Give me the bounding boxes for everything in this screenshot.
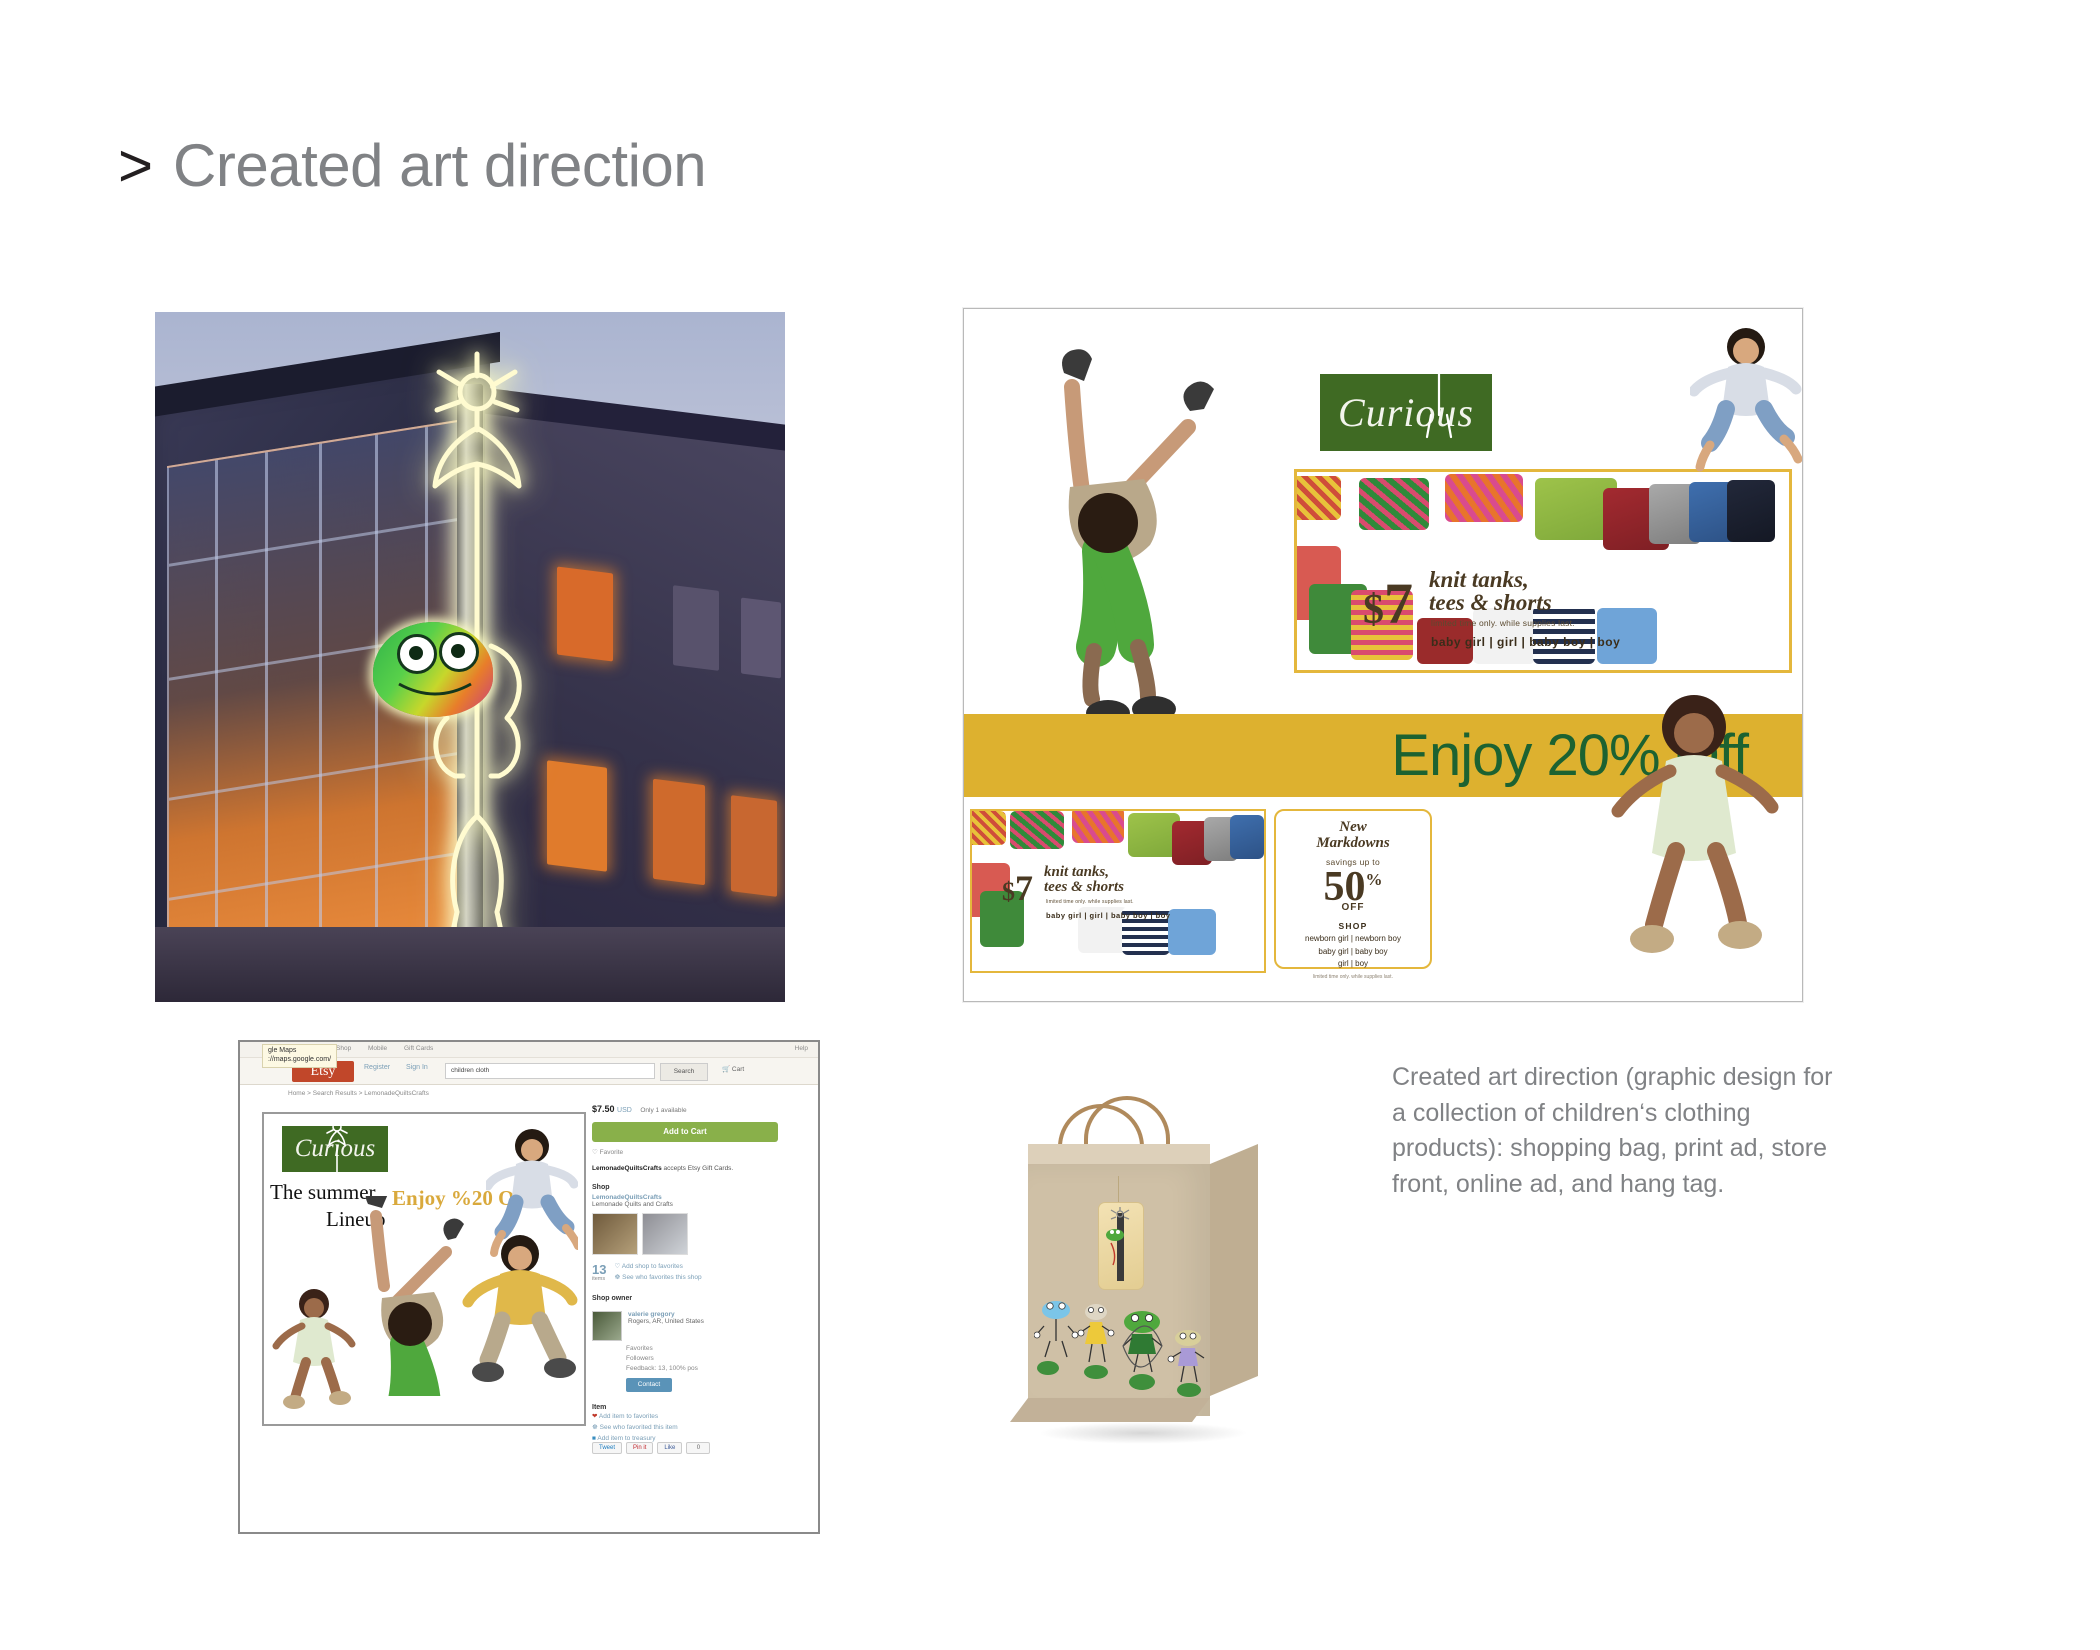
see-who-favorited-item-label: See who favorited this item (600, 1424, 678, 1431)
listing-sidebar: $7.50 USD Only 1 available Add to Cart ♡… (592, 1104, 782, 1444)
owner-stat-feedback[interactable]: Feedback: 13, 100% pos (626, 1364, 782, 1374)
listing-image[interactable]: Curious The summer Lineup Enjoy %20 Off (262, 1112, 586, 1426)
offer-categories: baby girl | girl | baby boy | boy (1046, 911, 1170, 920)
pin-it-button[interactable]: Pin it (626, 1442, 653, 1454)
listing-price-row: $7.50 USD Only 1 available (592, 1104, 782, 1114)
owner-stats: Favorites Followers Feedback: 13, 100% p… (626, 1344, 782, 1373)
markdown-coupon: New Markdowns savings up to 50% OFF SHOP… (1274, 809, 1432, 969)
tweet-button[interactable]: Tweet (592, 1442, 622, 1454)
breadcrumb[interactable]: Home > Search Results > LemonadeQuiltsCr… (288, 1090, 429, 1097)
bag-side-panel (1210, 1144, 1258, 1396)
coupon-shop-label: SHOP (1276, 921, 1430, 931)
kid-handstand-photo (963, 337, 1252, 757)
garment-shorts (1010, 811, 1064, 849)
price-headline: $7 (1363, 570, 1413, 637)
listing-currency: USD (617, 1107, 632, 1114)
add-shop-to-favorites[interactable]: ♡ Add shop to favorites (614, 1261, 701, 1272)
heart-icon: ♡ (592, 1149, 598, 1156)
nav-mobile[interactable]: Mobile (368, 1045, 387, 1052)
window (731, 795, 777, 897)
coupon-link-row[interactable]: girl | boy (1276, 958, 1430, 970)
garment-shorts (1294, 476, 1341, 520)
price-number: 7 (1384, 571, 1413, 636)
shop-name-link[interactable]: LemonadeQuiltsCrafts (592, 1194, 782, 1201)
coupon-off-label: OFF (1276, 902, 1430, 913)
cart-button[interactable]: 🛒 Cart (722, 1065, 744, 1073)
contact-button[interactable]: Contact (626, 1378, 672, 1392)
people-icon: ☸ (592, 1424, 598, 1431)
register-button[interactable]: Register (364, 1064, 390, 1071)
frog-character-head (373, 622, 493, 717)
offer-fineprint: limited time only. while supplies last. (1431, 618, 1575, 628)
price-headline: $7 (1002, 867, 1033, 909)
coupon-links[interactable]: newborn girl | newborn boy baby girl | b… (1276, 933, 1430, 970)
secondary-offer-block: $7 knit tanks, tees & shorts limited tim… (970, 809, 1266, 973)
window (673, 585, 719, 671)
offer-fineprint: limited time only. while supplies last. (1046, 899, 1134, 905)
nav-gift-cards[interactable]: Gift Cards (404, 1045, 433, 1052)
offer-headline-line1: knit tanks, (1429, 568, 1552, 591)
store-front-image (155, 312, 785, 1002)
price-currency: $ (1002, 877, 1015, 906)
shopping-bag-image (950, 1082, 1370, 1530)
shop-thumbnail[interactable] (642, 1213, 688, 1255)
owner-name-link[interactable]: valerie gregory (628, 1311, 704, 1318)
garment-shorts (1445, 474, 1523, 522)
offer-categories: baby girl | girl | baby boy | boy (1431, 635, 1620, 649)
price-number: 7 (1015, 868, 1033, 908)
add-item-to-favorites-label: Add item to favorites (599, 1413, 658, 1420)
owner-location: Rogers, AR, United States (628, 1318, 704, 1325)
hang-tag-string (1118, 1176, 1119, 1204)
shop-actions: ♡ Add shop to favorites ☸ See who favori… (614, 1261, 701, 1283)
print-ad-image: Curious (963, 308, 1803, 1002)
gift-card-note: LemonadeQuiltsCrafts accepts Etsy Gift C… (592, 1165, 782, 1172)
offer-headline-line1: knit tanks, (1044, 865, 1124, 880)
see-who-favorites-shop-label: See who favorites this shop (622, 1274, 702, 1281)
ad-kid-plaid-right (462, 1232, 582, 1412)
browser-window: Shop Mobile Gift Cards Help gle Maps ://… (240, 1042, 818, 1532)
facebook-like-button[interactable]: Like (657, 1442, 682, 1454)
garment-shorts (1072, 809, 1124, 843)
online-ad-mockup: Shop Mobile Gift Cards Help gle Maps ://… (238, 1040, 820, 1534)
shop-owner-row: valerie gregory Rogers, AR, United State… (592, 1311, 782, 1341)
girl-running-photo (1590, 691, 1780, 991)
watermark-strip (1060, 176, 1940, 198)
window (557, 567, 613, 662)
browser-status-tooltip: gle Maps ://maps.google.com/ (262, 1044, 337, 1068)
garment-shorts (970, 811, 1006, 845)
heart-icon: ♡ (614, 1263, 620, 1270)
product-strip: $7 knit tanks, tees & shorts limited tim… (1294, 469, 1792, 673)
like-count: 0 (686, 1442, 710, 1454)
offer-headline: knit tanks, tees & shorts (1044, 865, 1124, 896)
owner-stat-favorites[interactable]: Favorites (626, 1344, 782, 1354)
coupon-fineprint: limited time only. while supplies last. (1276, 974, 1430, 980)
gift-card-note-rest: accepts Etsy Gift Cards. (662, 1165, 734, 1172)
favorite-label: Favorite (600, 1149, 623, 1156)
garment-tee (1168, 909, 1216, 955)
tooltip-line-2: ://maps.google.com/ (268, 1056, 331, 1065)
coupon-title-line1: New (1276, 820, 1430, 836)
cart-icon: 🛒 (722, 1066, 730, 1073)
shop-thumbnail[interactable] (592, 1213, 638, 1255)
nav-shop[interactable]: Shop (336, 1045, 351, 1052)
see-who-favorites-shop[interactable]: ☸ See who favorites this shop (614, 1272, 701, 1283)
add-shop-to-favorites-label: Add shop to favorites (622, 1263, 683, 1270)
listing-price: $7.50 (592, 1104, 615, 1114)
gift-card-shop-name[interactable]: LemonadeQuiltsCrafts (592, 1165, 662, 1172)
search-input[interactable]: children cloth (445, 1063, 655, 1079)
garment-shorts (1230, 815, 1264, 859)
listing-availability: Only 1 available (640, 1107, 686, 1114)
ad-giraffe-mascot-icon (322, 1116, 352, 1190)
bag-top-edge (1028, 1144, 1210, 1166)
item-section-heading: Item (592, 1404, 782, 1411)
offer-headline: knit tanks, tees & shorts (1429, 568, 1552, 615)
project-description: Created art direction (graphic design fo… (1392, 1060, 1844, 1202)
sidewalk (155, 927, 785, 1002)
shop-thumbnails (592, 1213, 782, 1255)
ad-girl-running-left (272, 1286, 358, 1418)
shop-section-heading: Shop (592, 1184, 782, 1191)
add-to-cart-button[interactable]: Add to Cart (592, 1122, 778, 1142)
cart-label: Cart (732, 1066, 744, 1073)
shop-tagline: Lemonade Quilts and Crafts (592, 1201, 782, 1208)
price-currency: $ (1363, 587, 1384, 633)
add-item-to-favorites[interactable]: ❤ Add item to favorites (592, 1411, 782, 1422)
nav-help[interactable]: Help (795, 1045, 808, 1052)
hang-tag (1098, 1202, 1144, 1290)
shop-item-count: 13 (592, 1263, 606, 1276)
offer-headline-line2: tees & shorts (1044, 880, 1124, 895)
bag-drop-shadow (1038, 1422, 1248, 1444)
offer-headline-line2: tees & shorts (1429, 591, 1552, 614)
coupon-link-row[interactable]: newborn girl | newborn boy (1276, 933, 1430, 945)
favorite-button[interactable]: ♡ Favorite (592, 1148, 782, 1156)
garment-shorts (1359, 478, 1429, 530)
heart-icon: ❤ (592, 1413, 597, 1420)
item-actions: ❤ Add item to favorites ☸ See who favori… (592, 1411, 782, 1444)
page-title: > Created art direction (118, 136, 706, 196)
title-caret-icon: > (118, 136, 151, 196)
tooltip-line-1: gle Maps (268, 1047, 331, 1056)
giraffe-mascot-icon (1416, 327, 1462, 447)
signin-button[interactable]: Sign In (406, 1064, 428, 1071)
avatar[interactable] (592, 1311, 622, 1341)
people-icon: ☸ (614, 1274, 620, 1281)
bag-characters-artwork (1034, 1296, 1216, 1414)
shop-items-row: 13 items ♡ Add shop to favorites ☸ See w… (592, 1261, 782, 1283)
social-share-row: Tweet Pin it Like 0 (592, 1442, 710, 1454)
see-who-favorited-item[interactable]: ☸ See who favorited this item (592, 1422, 782, 1433)
owner-stat-followers[interactable]: Followers (626, 1354, 782, 1364)
garment-shorts (1727, 480, 1775, 542)
coupon-percent: % (1366, 870, 1383, 889)
title-label: Created art direction (173, 136, 706, 196)
coupon-link-row[interactable]: baby girl | baby boy (1276, 946, 1430, 958)
shop-item-count-label: items (592, 1276, 606, 1282)
search-button[interactable]: Search (660, 1063, 708, 1081)
brand-logo-block: Curious (1320, 374, 1492, 451)
shop-owner-heading: Shop owner (592, 1295, 782, 1302)
hang-tag-artwork (1103, 1207, 1139, 1285)
window (741, 598, 781, 679)
coupon-amount: 50% (1276, 868, 1430, 907)
window (653, 779, 705, 885)
kid-jumping-photo-top-right (1690, 323, 1802, 473)
coupon-title-line2: Markdowns (1276, 836, 1430, 852)
slide-canvas: > Created art direction (0, 0, 2100, 1650)
